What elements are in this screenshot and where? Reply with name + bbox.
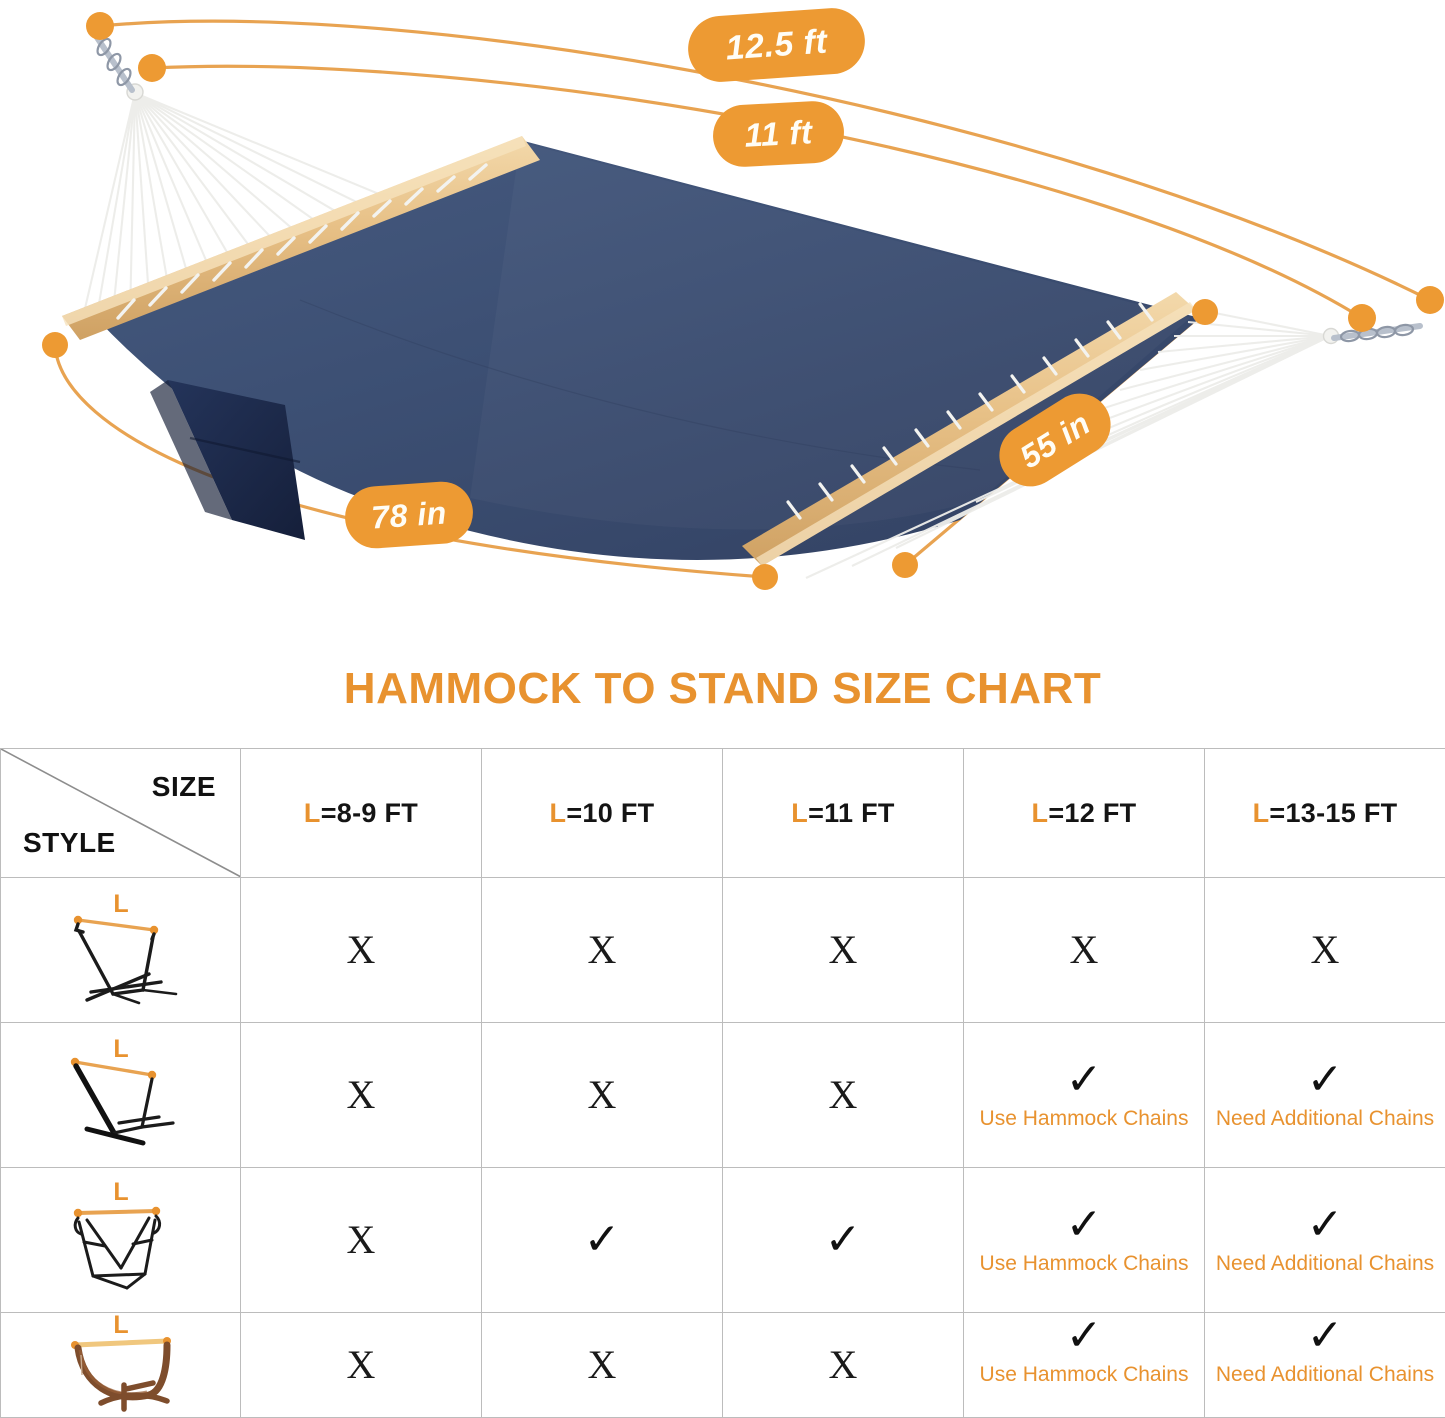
cell-r4c4: ✓ Use Hammock Chains [964, 1313, 1205, 1418]
table-header-row: SIZE STYLE L=8-9 FT L=10 FT L=11 FT L [1, 749, 1445, 878]
mark: X [829, 1072, 858, 1117]
column-header-13-15ft: L=13-15 FT [1205, 749, 1445, 878]
cell-note: Need Additional Chains [1216, 1251, 1434, 1277]
column-header-10ft: L=10 FT [482, 749, 723, 878]
mark: X [347, 1072, 376, 1117]
cell-r4c3: X [723, 1313, 964, 1418]
cell-note: Use Hammock Chains [980, 1362, 1189, 1388]
table-row: L [1, 1023, 1445, 1168]
cell-r1c3: X [723, 878, 964, 1023]
mark: ✓ [1307, 1203, 1344, 1247]
dot-total-right [1416, 286, 1444, 314]
hammock-product-image: 12.5 ft 11 ft 55 in 78 in [0, 0, 1445, 640]
left-chain [95, 36, 133, 90]
page-title: HAMMOCK TO STAND SIZE CHART [0, 664, 1445, 714]
mark: ✓ [1307, 1314, 1344, 1358]
cell-r2c2: X [482, 1023, 723, 1168]
stand-l-badge-3: L [113, 1180, 128, 1206]
size-chart-table: SIZE STYLE L=8-9 FT L=10 FT L=11 FT L [0, 748, 1445, 1418]
cell-r4c5: ✓ Need Additional Chains [1205, 1313, 1445, 1418]
mark: X [588, 1072, 617, 1117]
mark: ✓ [1066, 1058, 1103, 1102]
cell-r4c1: X [241, 1313, 482, 1418]
mark: X [829, 927, 858, 972]
cell-note: Need Additional Chains [1216, 1362, 1434, 1388]
mark: X [347, 1342, 376, 1387]
cell-r3c2: ✓ [482, 1168, 723, 1313]
column-header-text-4: =13-15 FT [1269, 798, 1397, 828]
column-header-l-0: L [304, 798, 321, 828]
corner-size-label: SIZE [152, 771, 216, 803]
heavy-duty-steel-stand-icon: L [21, 1035, 221, 1155]
dot-width-top [1192, 299, 1218, 325]
column-header-text-2: =11 FT [808, 798, 895, 828]
mark: X [1311, 927, 1340, 972]
stand-l-badge-1: L [113, 890, 128, 918]
dot-bed-right [1348, 304, 1376, 332]
hammock-illustration [0, 0, 1445, 640]
cell-r3c1: X [241, 1168, 482, 1313]
column-header-l-4: L [1253, 798, 1270, 828]
table-body: L [1, 878, 1445, 1418]
cell-r1c4: X [964, 878, 1205, 1023]
portable-folding-stand-icon: L [21, 1180, 221, 1300]
style-cell-wooden-arc-stand: L [1, 1313, 241, 1418]
mark: ✓ [1307, 1058, 1344, 1102]
infographic-page: 12.5 ft 11 ft 55 in 78 in HAMMOCK TO STA… [0, 0, 1445, 1404]
measurement-badge-bed-length: 78 in [343, 480, 475, 551]
right-chain [1334, 324, 1420, 342]
cell-note: Need Additional Chains [1216, 1106, 1434, 1132]
table-corner-header: SIZE STYLE [1, 749, 241, 878]
style-cell-heavy-duty-steel-stand: L [1, 1023, 241, 1168]
column-header-text-0: =8-9 FT [321, 798, 418, 828]
column-header-text-1: =10 FT [566, 798, 654, 828]
cell-note: Use Hammock Chains [980, 1251, 1189, 1277]
table-row: L [1, 878, 1445, 1023]
cell-r3c5: ✓ Need Additional Chains [1205, 1168, 1445, 1313]
column-header-text-3: =12 FT [1048, 798, 1136, 828]
mark: ✓ [584, 1214, 621, 1265]
mark: X [1070, 927, 1099, 972]
mark: X [588, 927, 617, 972]
dot-width-bottom [892, 552, 918, 578]
size-chart-table-wrap: SIZE STYLE L=8-9 FT L=10 FT L=11 FT L [0, 748, 1445, 1418]
cell-r2c5: ✓ Need Additional Chains [1205, 1023, 1445, 1168]
measurement-badge-total-length: 12.5 ft [686, 6, 867, 84]
column-header-12ft: L=12 FT [964, 749, 1205, 878]
dot-length-right [752, 564, 778, 590]
mark: ✓ [1066, 1314, 1103, 1358]
mark: X [347, 927, 376, 972]
table-row: L [1, 1168, 1445, 1313]
wooden-arc-stand-icon: L [21, 1315, 221, 1415]
dot-length-left [42, 332, 68, 358]
column-header-8-9ft: L=8-9 FT [241, 749, 482, 878]
corner-style-label: STYLE [23, 827, 116, 859]
cell-r1c5: X [1205, 878, 1445, 1023]
single-post-steel-stand-icon: L [21, 890, 221, 1010]
column-header-11ft: L=11 FT [723, 749, 964, 878]
style-cell-portable-folding-stand: L [1, 1168, 241, 1313]
stand-l-badge-4: L [113, 1315, 128, 1339]
table-row: L [1, 1313, 1445, 1418]
table-head: SIZE STYLE L=8-9 FT L=10 FT L=11 FT L [1, 749, 1445, 878]
mark: X [829, 1342, 858, 1387]
cell-r3c4: ✓ Use Hammock Chains [964, 1168, 1205, 1313]
cell-r1c2: X [482, 878, 723, 1023]
dot-total-left [86, 12, 114, 40]
style-cell-single-post-steel-stand: L [1, 878, 241, 1023]
cell-r1c1: X [241, 878, 482, 1023]
mark: X [588, 1342, 617, 1387]
cell-r3c3: ✓ [723, 1168, 964, 1313]
stand-l-badge-2: L [113, 1035, 128, 1063]
cell-r2c1: X [241, 1023, 482, 1168]
dot-bed-left [138, 54, 166, 82]
mark: X [347, 1217, 376, 1262]
column-header-l-1: L [550, 798, 567, 828]
cell-r2c3: X [723, 1023, 964, 1168]
measurement-badge-bed-to-bed-length: 11 ft [711, 100, 845, 169]
mark: ✓ [825, 1214, 862, 1265]
column-header-l-3: L [1032, 798, 1049, 828]
cell-note: Use Hammock Chains [980, 1106, 1189, 1132]
mark: ✓ [1066, 1203, 1103, 1247]
cell-r2c4: ✓ Use Hammock Chains [964, 1023, 1205, 1168]
column-header-l-2: L [791, 798, 808, 828]
cell-r4c2: X [482, 1313, 723, 1418]
